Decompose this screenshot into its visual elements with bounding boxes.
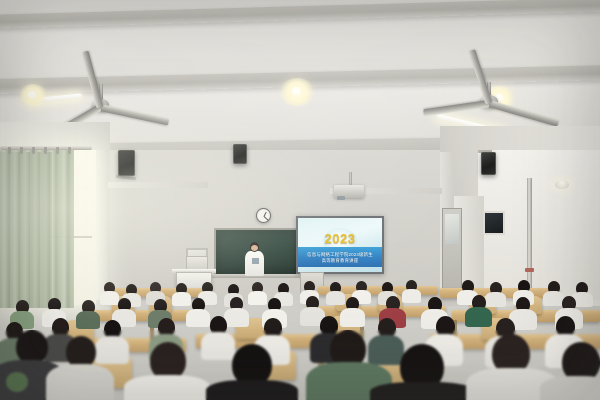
projection-screen: 2023 信息与网络工程学院2023级新生 高等教育教育讲座 [296,216,384,274]
classroom-photo: 2023 信息与网络工程学院2023级新生 高等教育教育讲座 [0,0,600,400]
presenter-shirt-graphic [252,258,259,264]
dark-window [483,211,505,235]
wall-speaker-right [481,152,496,175]
drain-pipe [527,178,532,293]
projector-lens-icon [337,196,345,200]
ceiling-bulb-left [28,91,36,98]
slide-title-band: 信息与网络工程学院2023级新生 高等教育教育讲座 [298,247,382,267]
desk-row-mid-left [84,310,202,321]
presenter-face [251,245,258,251]
slide-title-line-1: 信息与网络工程学院2023级新生 [307,252,373,257]
wall-ledge-left [108,182,208,188]
ceiling-bulb-center [292,87,301,95]
wall-pilaster-left [96,150,108,300]
pipe-clamp [525,268,534,272]
wall-speaker-center [233,144,247,164]
slide-title-line-2: 高等教育教育讲座 [322,258,359,263]
projector-mount-rod [349,172,352,185]
shirt-logo [6,372,28,392]
window-curtain-inner[interactable] [0,152,52,308]
slide-year-text: 2023 [298,231,382,246]
wall-clock [256,208,271,223]
wall-lamp [555,180,569,189]
presentation-slide: 2023 信息与网络工程学院2023级新生 高等教育教育讲座 [298,218,382,272]
wall-speaker-left [118,150,135,176]
door-glass [445,214,459,244]
